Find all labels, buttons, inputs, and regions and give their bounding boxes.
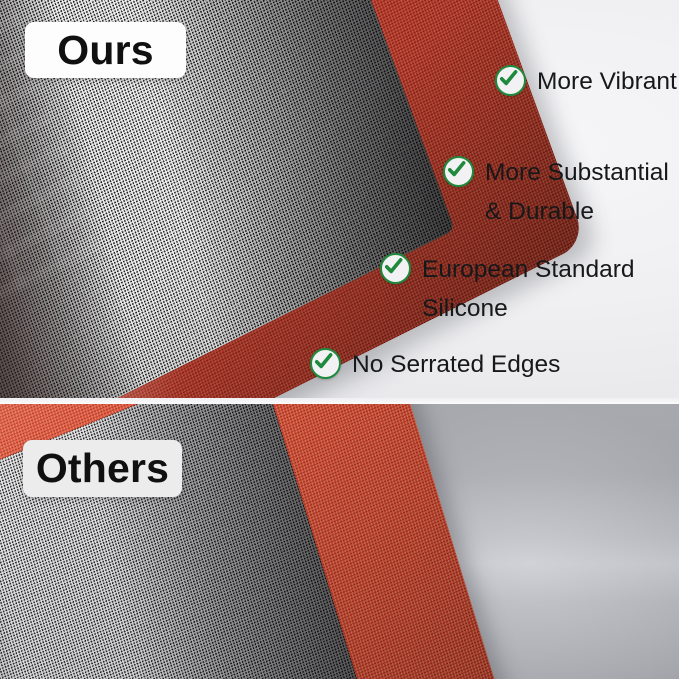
feature-text: More Vibrant (537, 62, 677, 101)
green-check-circle-icon (380, 253, 411, 284)
green-check-circle-icon (310, 348, 341, 379)
feature-item: European Standard Silicone (380, 250, 635, 328)
feature-line: & Durable (485, 192, 669, 231)
comparison-image: Ours More Vibrant (0, 0, 679, 679)
green-check-circle-icon (495, 65, 526, 96)
feature-line: More Vibrant (537, 62, 677, 101)
feature-text: No Serrated Edges (352, 345, 560, 384)
feature-item: More Vibrant (495, 62, 677, 101)
feature-line: No Serrated Edges (352, 345, 560, 384)
feature-list: More Vibrant More Substantial & Durable (0, 0, 679, 404)
feature-item: More Substantial & Durable (443, 153, 669, 231)
ours-panel: Ours More Vibrant (0, 0, 679, 404)
others-badge: Others (23, 440, 182, 497)
feature-text: European Standard Silicone (422, 250, 635, 328)
green-check-circle-icon (443, 156, 474, 187)
feature-line: More Substantial (485, 153, 669, 192)
feature-line: European Standard (422, 250, 635, 289)
feature-text: More Substantial & Durable (485, 153, 669, 231)
feature-item: No Serrated Edges (310, 345, 560, 384)
feature-line: Silicone (422, 289, 635, 328)
